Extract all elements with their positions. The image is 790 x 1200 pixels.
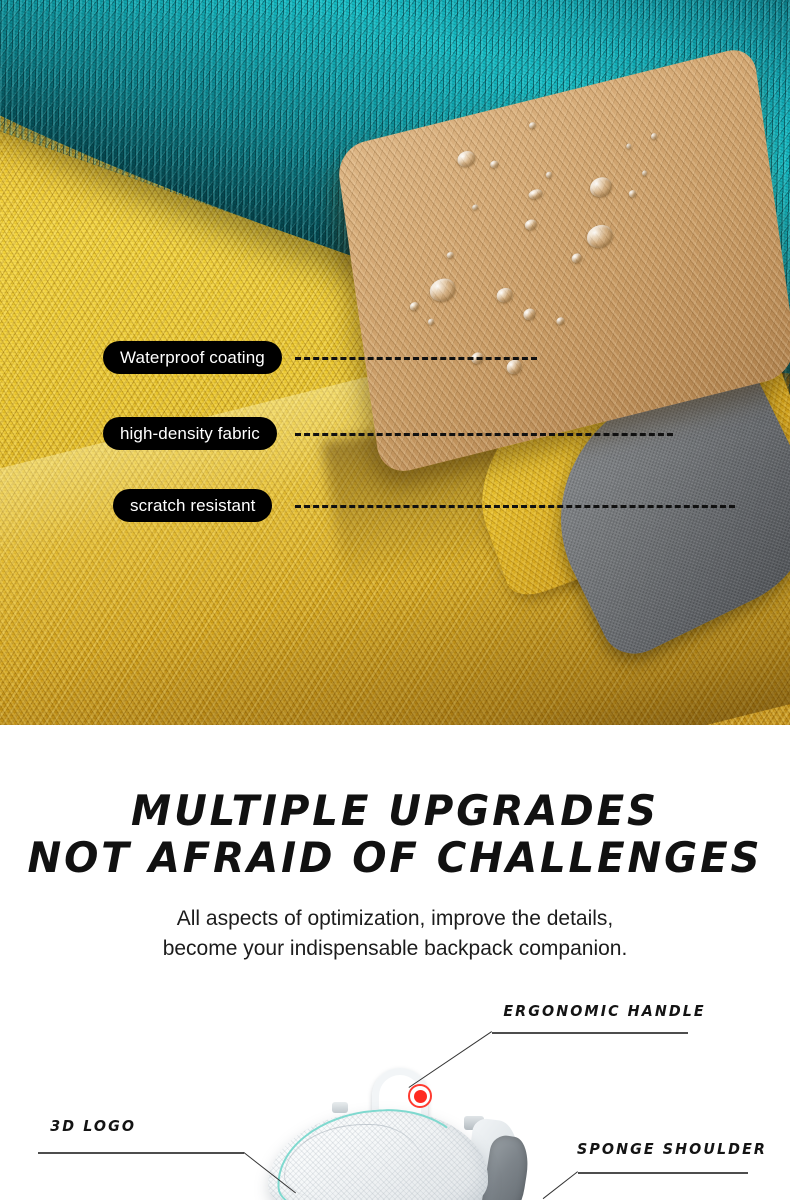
spec-rule-3d-logo	[38, 1152, 244, 1154]
callout-label: high-density fabric	[120, 425, 260, 442]
spec-rule-sponge-shoulder	[578, 1172, 748, 1174]
headline-line-2: NOT AFRAID OF CHALLENGES	[16, 834, 774, 881]
backpack-zipper	[273, 1103, 476, 1200]
product-feature-page: Waterproof coating high-density fabric s…	[0, 0, 790, 1200]
spec-label-3d-logo: 3D LOGO	[50, 1117, 136, 1135]
subtitle-line-1: All aspects of optimization, improve the…	[0, 904, 790, 934]
spec-label-ergonomic-handle: ERGONOMIC HANDLE	[503, 1002, 705, 1020]
callout-high-density-fabric: high-density fabric	[103, 417, 277, 450]
callout-scratch-resistant: scratch resistant	[113, 489, 272, 522]
leader-line-scratch-resistant	[295, 505, 735, 508]
callout-label: Waterproof coating	[120, 349, 265, 366]
callout-label: scratch resistant	[130, 497, 255, 514]
backpack-side-tab	[332, 1102, 348, 1113]
spec-label-sponge-shoulder: SPONGE SHOULDER	[577, 1140, 767, 1158]
handle-marker-icon	[408, 1084, 432, 1108]
subtitle-line-2: become your indispensable backpack compa…	[0, 934, 790, 964]
backpack-product-image	[250, 1050, 550, 1200]
fabric-hero-image: Waterproof coating high-density fabric s…	[0, 0, 790, 725]
leader-line-high-density-fabric	[295, 433, 673, 436]
callout-waterproof-coating: Waterproof coating	[103, 341, 282, 374]
spec-rule-ergonomic-handle	[492, 1032, 688, 1034]
leader-line-waterproof-coating	[295, 357, 537, 360]
product-callout-section: ERGONOMIC HANDLE 3D LOGO SPONGE SHOULDER	[0, 990, 790, 1200]
headline-line-1: MULTIPLE UPGRADES	[16, 787, 774, 834]
